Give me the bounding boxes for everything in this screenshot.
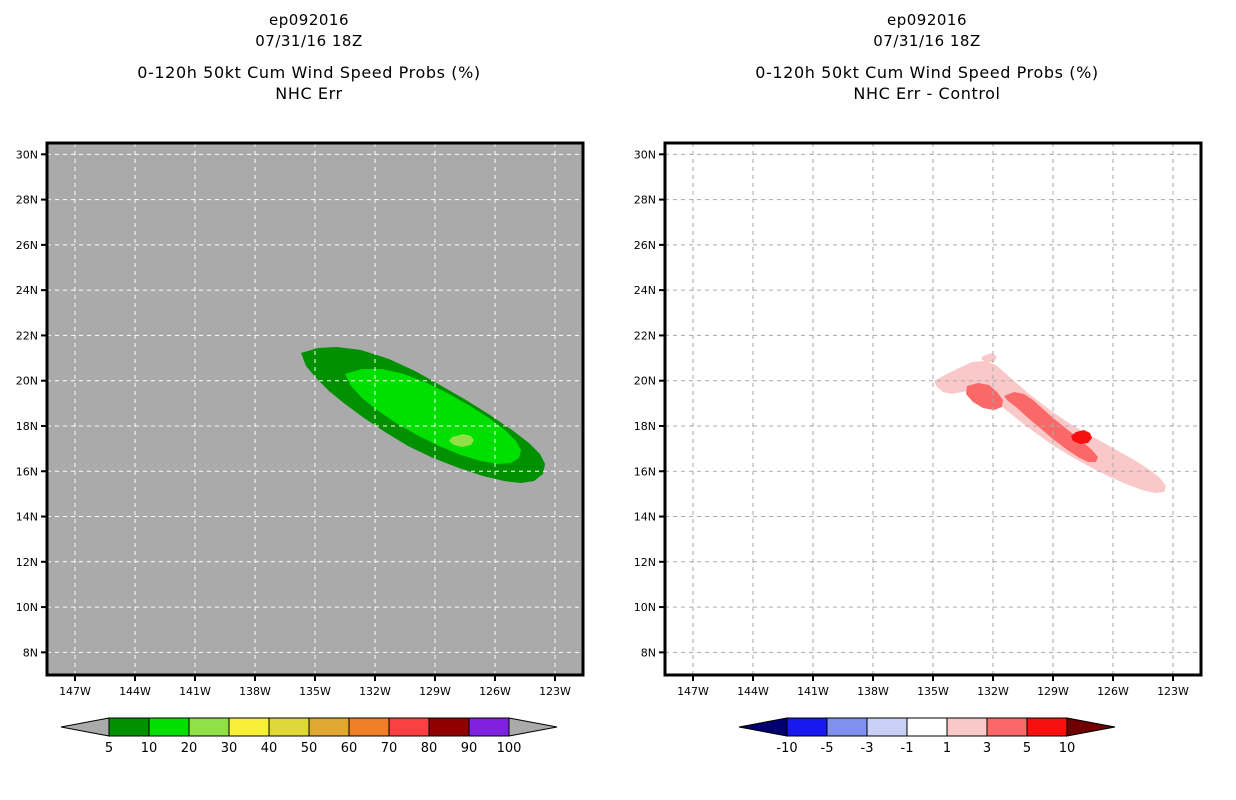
ytick-label: 26N [16, 239, 38, 252]
colorbar-under-arrow [739, 718, 787, 736]
colorbar-left[interactable]: 5102030405060708090100 [0, 700, 618, 760]
colorbar-tick-label: 60 [341, 741, 358, 756]
title-block-right: ep092016 07/31/16 18Z 0-120h 50kt Cum Wi… [618, 10, 1236, 104]
product-title-left: 0-120h 50kt Cum Wind Speed Probs (%) [0, 62, 618, 83]
ytick-label: 18N [634, 420, 656, 433]
colorbar-swatch-80[interactable] [429, 718, 469, 736]
colorbar-swatch--3[interactable] [867, 718, 907, 736]
xtick-label: 126W [479, 685, 511, 698]
xtick-label: 138W [857, 685, 889, 698]
colorbar-tick-label: -5 [821, 741, 834, 756]
ytick-label: 20N [16, 375, 38, 388]
ytick-label: 30N [634, 148, 656, 161]
colorbar-swatch-5[interactable] [1027, 718, 1067, 736]
colorbar-swatch-60[interactable] [349, 718, 389, 736]
ytick-label: 10N [16, 601, 38, 614]
colorbar-tick-label: 100 [497, 741, 522, 756]
ytick-label: 22N [634, 329, 656, 342]
colorbar-tick-label: -10 [776, 741, 797, 756]
colorbar-swatch-70[interactable] [389, 718, 429, 736]
product-title-right: 0-120h 50kt Cum Wind Speed Probs (%) [618, 62, 1236, 83]
colorbar-swatch--10[interactable] [787, 718, 827, 736]
xtick-label: 132W [359, 685, 391, 698]
xtick-label: 129W [419, 685, 451, 698]
colorbar-over-arrow [509, 718, 557, 736]
ytick-label: 20N [634, 375, 656, 388]
ytick-label: 28N [16, 194, 38, 207]
colorbar-swatch-50[interactable] [309, 718, 349, 736]
colorbar-over-arrow [1067, 718, 1115, 736]
ytick-label: 10N [634, 601, 656, 614]
colorbar-tick-label: 10 [141, 741, 158, 756]
storm-id-left: ep092016 [0, 10, 618, 31]
colorbar-swatch-1[interactable] [947, 718, 987, 736]
xtick-label: 135W [917, 685, 949, 698]
map-svg-left: 30N28N26N24N22N20N18N16N14N12N10N8N147W1… [0, 120, 618, 700]
panel-right: ep092016 07/31/16 18Z 0-120h 50kt Cum Wi… [618, 0, 1236, 800]
xtick-label: 135W [299, 685, 331, 698]
ytick-label: 30N [16, 148, 38, 161]
colorbar-tick-label: 80 [421, 741, 438, 756]
ytick-label: 16N [16, 465, 38, 478]
colorbar-swatch-90[interactable] [469, 718, 509, 736]
xtick-label: 144W [737, 685, 769, 698]
ytick-label: 16N [634, 465, 656, 478]
panel-left: ep092016 07/31/16 18Z 0-120h 50kt Cum Wi… [0, 0, 618, 800]
colorbar-tick-label: 90 [461, 741, 478, 756]
colorbar-swatch-30[interactable] [229, 718, 269, 736]
xtick-label: 138W [239, 685, 271, 698]
colorbar-tick-label: 1 [943, 741, 951, 756]
ytick-label: 14N [634, 511, 656, 524]
xtick-label: 132W [977, 685, 1009, 698]
colorbar-swatch-40[interactable] [269, 718, 309, 736]
xtick-label: 123W [1157, 685, 1189, 698]
datetime-left: 07/31/16 18Z [0, 31, 618, 52]
source-title-left: NHC Err [0, 83, 618, 104]
colorbar-swatch-5[interactable] [109, 718, 149, 736]
ytick-label: 14N [16, 511, 38, 524]
storm-id-right: ep092016 [618, 10, 1236, 31]
colorbar-swatch--5[interactable] [827, 718, 867, 736]
ytick-label: 22N [16, 329, 38, 342]
xtick-label: 147W [59, 685, 91, 698]
ytick-label: 28N [634, 194, 656, 207]
colorbar-tick-label: -1 [901, 741, 914, 756]
ytick-label: 8N [641, 646, 656, 659]
ytick-label: 12N [634, 556, 656, 569]
ytick-label: 12N [16, 556, 38, 569]
title-block-left: ep092016 07/31/16 18Z 0-120h 50kt Cum Wi… [0, 10, 618, 104]
colorbar-tick-label: 30 [221, 741, 238, 756]
source-title-right: NHC Err - Control [618, 83, 1236, 104]
colorbar-tick-label: 50 [301, 741, 318, 756]
colorbar-swatch-20[interactable] [189, 718, 229, 736]
colorbar-tick-label: 40 [261, 741, 278, 756]
xtick-label: 129W [1037, 685, 1069, 698]
colorbar-tick-label: 3 [983, 741, 991, 756]
colorbar-tick-label: 70 [381, 741, 398, 756]
colorbar-swatch-3[interactable] [987, 718, 1027, 736]
colorbar-right[interactable]: -10-5-3-113510 [618, 700, 1236, 760]
map-svg-right: 30N28N26N24N22N20N18N16N14N12N10N8N147W1… [618, 120, 1236, 700]
datetime-right: 07/31/16 18Z [618, 31, 1236, 52]
map-plot-right[interactable]: 30N28N26N24N22N20N18N16N14N12N10N8N147W1… [618, 120, 1236, 700]
xtick-label: 141W [179, 685, 211, 698]
ytick-label: 24N [16, 284, 38, 297]
xtick-label: 144W [119, 685, 151, 698]
colorbar-swatch--1[interactable] [907, 718, 947, 736]
colorbar-tick-label: -3 [861, 741, 874, 756]
xtick-label: 126W [1097, 685, 1129, 698]
colorbar-tick-label: 5 [1023, 741, 1031, 756]
ytick-label: 8N [23, 646, 38, 659]
ytick-label: 18N [16, 420, 38, 433]
map-plot-left[interactable]: 30N28N26N24N22N20N18N16N14N12N10N8N147W1… [0, 120, 618, 700]
colorbar-under-arrow [61, 718, 109, 736]
xtick-label: 147W [677, 685, 709, 698]
ytick-label: 24N [634, 284, 656, 297]
colorbar-svg-right: -10-5-3-113510 [618, 700, 1236, 760]
xtick-label: 123W [539, 685, 571, 698]
colorbar-svg-left: 5102030405060708090100 [0, 700, 618, 760]
colorbar-tick-label: 20 [181, 741, 198, 756]
xtick-label: 141W [797, 685, 829, 698]
colorbar-tick-label: 5 [105, 741, 113, 756]
ytick-label: 26N [634, 239, 656, 252]
colorbar-tick-label: 10 [1059, 741, 1076, 756]
colorbar-swatch-10[interactable] [149, 718, 189, 736]
